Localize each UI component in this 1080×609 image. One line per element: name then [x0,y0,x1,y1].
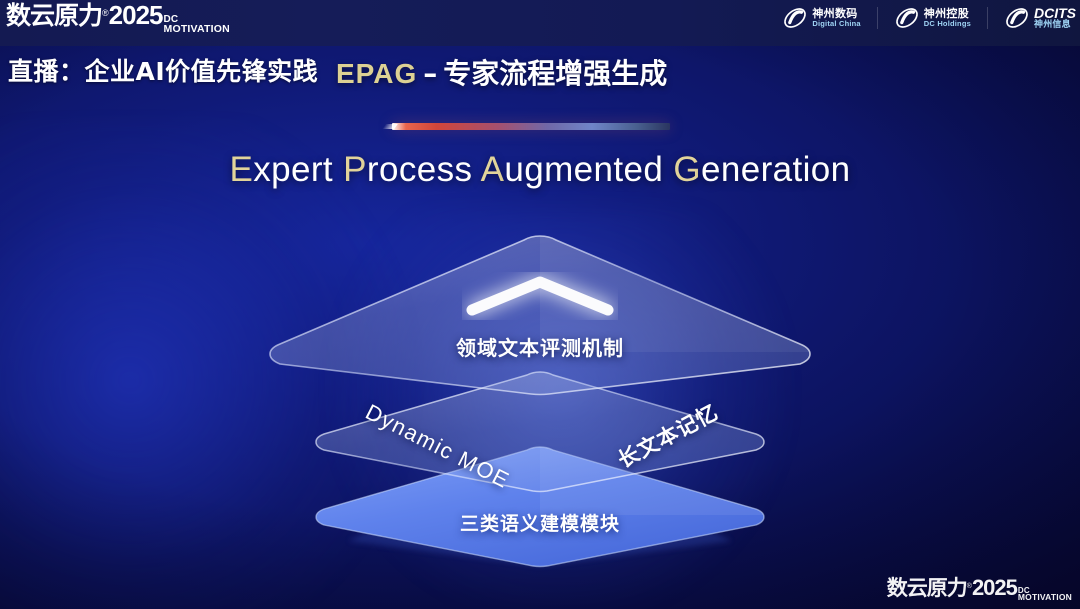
swoosh-logo-icon [1004,5,1030,31]
swoosh-logo-icon [782,5,808,31]
logo-digital-china[interactable]: 神州数码 Digital China [782,5,860,31]
layer-bottom-label: 三类语义建模模块 [0,509,1080,536]
swoosh-logo-icon [894,5,920,31]
partner-logos: 神州数码 Digital China 神州控股 DC Holdings [782,5,1076,31]
subtitle-part-1: xpert [253,150,343,189]
watermark-name-cn: 数云原力 [887,578,967,599]
background-glow-center [330,210,790,609]
layer-middle-label-right: 长文本记忆 [612,396,723,474]
page-title-acronym: EPAG [336,58,417,89]
brand-year: 2025 [109,2,163,28]
registered-mark: ® [102,8,109,18]
logo-dc-holdings[interactable]: 神州控股 DC Holdings [894,5,971,31]
layer-top-label: 领域文本评测机制 [0,332,1080,361]
page-title-dash: – [423,57,437,90]
decorative-gradient-rule [392,123,670,130]
logo-divider [877,7,878,29]
subtitle-part-4: A [481,150,505,189]
logo-dcits-text: DCITS 神州信息 [1034,6,1076,30]
layer-bottom[interactable] [316,447,764,567]
logo-name-en: 神州信息 [1034,21,1076,30]
subtitle-part-6: G [673,150,701,189]
brand-logo-top: 数云原力 ® 2025 DC MOTIVATION [6,2,230,36]
layer-middle-label-left: Dynamic MOE [361,399,514,494]
brand-name-cn: 数云原力 [6,3,102,28]
subtitle-part-7: eneration [701,150,851,189]
watermark-dc-motivation: DC MOTIVATION [1018,587,1072,602]
logo-name-cn: DCITS [1034,6,1076,21]
watermark-registered: ® [967,583,972,590]
brand-dc-motivation: DC MOTIVATION [164,16,230,34]
subtitle-part-0: E [229,150,253,189]
logo-dc-holdings-text: 神州控股 DC Holdings [924,8,971,27]
slide-canvas: 领域文本评测机制 Dynamic MOE 长文本记忆 三类语义建模模块 数云原力… [0,0,1080,609]
brand-motivation-text: MOTIVATION [164,25,230,34]
logo-name-en: DC Holdings [924,20,971,28]
logo-name-en: Digital China [812,20,860,28]
logo-dcits[interactable]: DCITS 神州信息 [1004,5,1076,31]
logo-digital-china-text: 神州数码 Digital China [812,8,860,27]
subtitle-expansion: Expert Process Augmented Generation [0,150,1080,190]
page-title-chinese: 专家流程增强生成 [443,57,667,90]
brand-watermark-bottom: 数云原力 ® 2025 DC MOTIVATION [887,577,1072,604]
live-session-title: 直播：企业AI价值先锋实践 [8,52,318,88]
watermark-motivation-text: MOTIVATION [1018,594,1072,601]
logo-divider [987,7,988,29]
subtitle-part-3: rocess [367,150,481,189]
subtitle-part-5: ugmented [504,150,673,189]
subtitle-part-2: P [343,150,367,189]
watermark-year: 2025 [972,577,1017,599]
chevron-up-icon [462,272,618,320]
page-title: EPAG–专家流程增强生成 [336,52,667,92]
header-bar: 数云原力 ® 2025 DC MOTIVATION 神州数码 Digital C… [0,0,1080,46]
